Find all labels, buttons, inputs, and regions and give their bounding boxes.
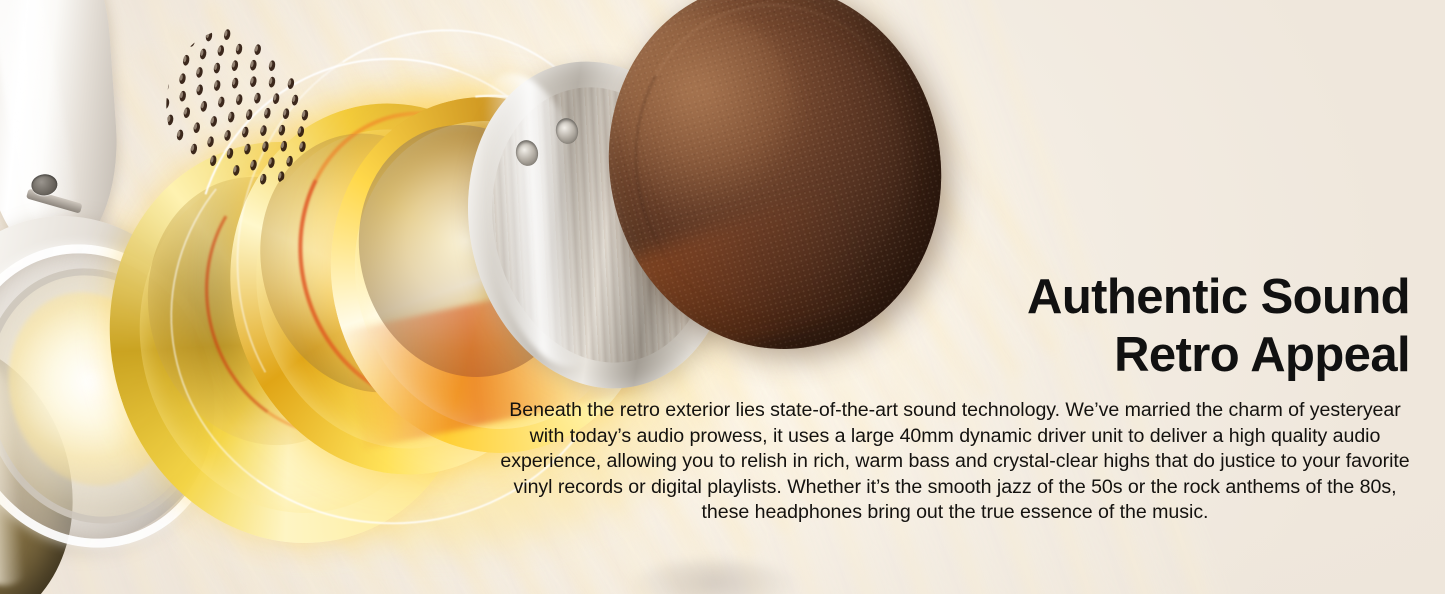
page-title: Authentic Sound Retro Appeal [490, 268, 1410, 384]
body-paragraph: Beneath the retro exterior lies state-of… [500, 398, 1410, 526]
headline-line-1: Authentic Sound [1027, 270, 1410, 324]
product-banner: Authentic Sound Retro Appeal Beneath the… [0, 0, 1445, 594]
marketing-copy-block: Authentic Sound Retro Appeal Beneath the… [490, 268, 1410, 526]
headline-line-2: Retro Appeal [490, 326, 1410, 384]
